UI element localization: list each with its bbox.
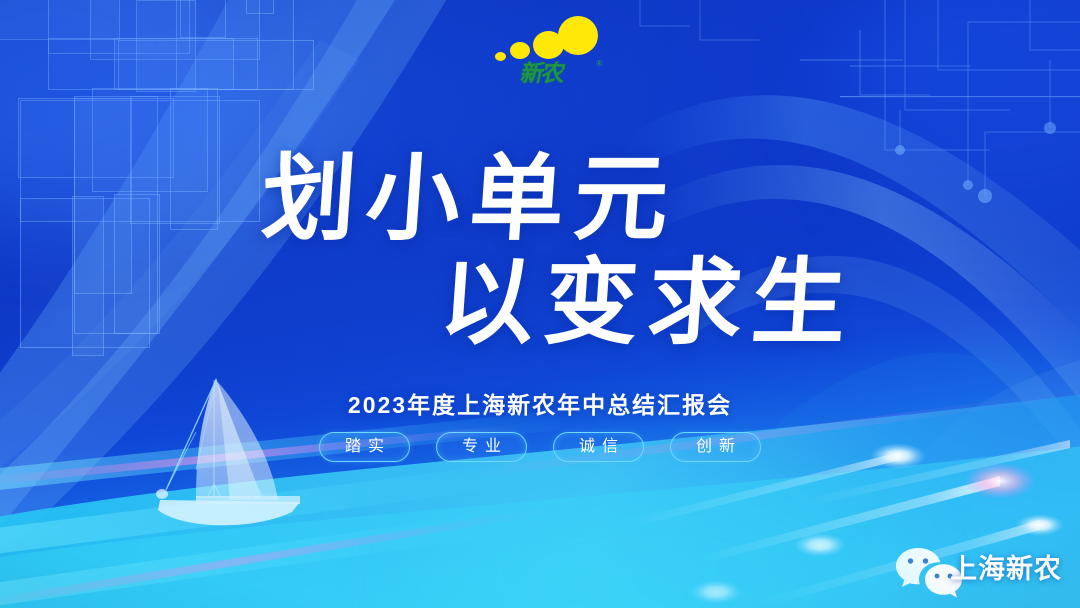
tag-tashi: 踏实 (319, 432, 410, 462)
banner-canvas: 新农 ® 划小单元 以变求生 2023年度上海新农年中总结汇报会 踏实 专业 诚… (0, 0, 1080, 608)
headline-line-1: 划小单元 (259, 152, 682, 248)
value-tags: 踏实 专业 诚信 创新 (0, 432, 1080, 462)
event-subtitle: 2023年度上海新农年中总结汇报会 (0, 386, 1080, 420)
xinnong-logo: 新农 ® (495, 12, 600, 92)
wechat-account-name: 上海新农 (950, 547, 1062, 586)
tag-zhuanye: 专业 (436, 432, 527, 462)
logo-trademark: ® (596, 59, 602, 68)
tag-chengxin: 诚信 (553, 432, 644, 462)
headline-line-2: 以变求生 (437, 256, 860, 352)
wechat-watermark: 上海新农 (950, 547, 1062, 586)
logo-dot-2 (510, 42, 530, 59)
tag-chuangxin: 创新 (670, 432, 761, 462)
logo-dot-1 (495, 52, 506, 61)
logo-dot-4 (558, 16, 598, 55)
logo-wordmark: 新农 (506, 61, 578, 87)
